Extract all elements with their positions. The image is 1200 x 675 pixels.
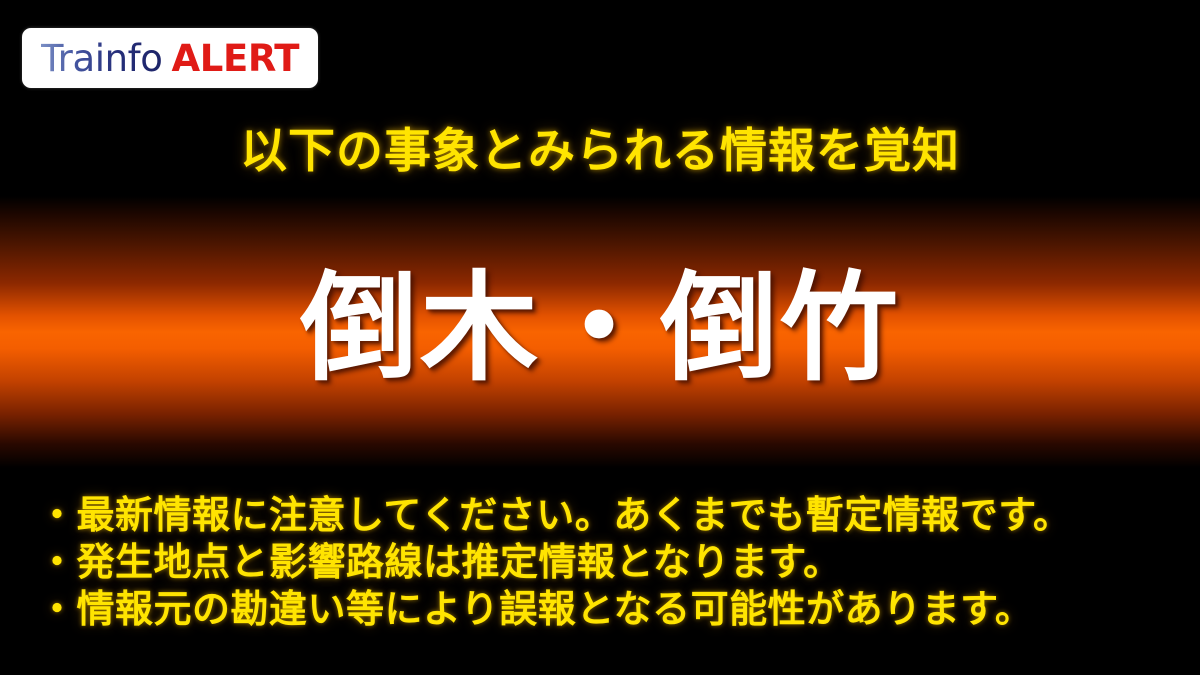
event-title-text: 倒木・倒竹 [0,262,1200,394]
trainfo-alert-logo: TrainfoALERT [22,28,318,88]
note-item: ・ 最新情報に注意してください。あくまでも暫定情報です。 [38,492,1178,539]
logo-suffix-text: ALERT [172,37,300,80]
note-text: 最新情報に注意してください。あくまでも暫定情報です。 [77,492,1072,539]
notes-list: ・ 最新情報に注意してください。あくまでも暫定情報です。 ・ 発生地点と影響路線… [38,492,1178,633]
note-item: ・ 情報元の勘違い等により誤報となる可能性があります。 [38,586,1178,633]
note-text: 発生地点と影響路線は推定情報となります。 [77,539,842,586]
alert-graphic: TrainfoALERT 以下の事象とみられる情報を覚知 倒木・倒竹 ・ 最新情… [0,0,1200,675]
bullet-glyph: ・ [38,492,77,539]
note-item: ・ 発生地点と影響路線は推定情報となります。 [38,539,1178,586]
logo-brand-text: Trainfo [41,37,163,80]
note-text: 情報元の勘違い等により誤報となる可能性があります。 [77,586,1034,633]
bullet-glyph: ・ [38,539,77,586]
bullet-glyph: ・ [38,586,77,633]
headline-text: 以下の事象とみられる情報を覚知 [0,126,1200,178]
logo-text: TrainfoALERT [41,40,299,77]
